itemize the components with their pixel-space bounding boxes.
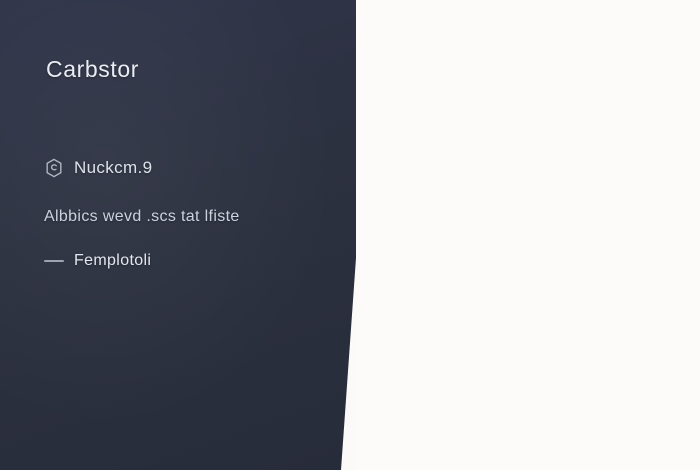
sidebar-item-label-1: Albbics wevd .scs tat lfiste [44, 208, 240, 226]
slide-canvas: L'MTOOEt eymctrtternedfrarstgpetrsabsren [0, 0, 700, 470]
sidebar-item-label-2: Femplotoli [74, 252, 151, 270]
sidebar-item-label-0: Nuckcm.9 [74, 158, 152, 178]
page-title: Carbstor [46, 56, 139, 83]
sidebar-item-0[interactable]: Nuckcm.9 [44, 158, 152, 178]
dash-icon [44, 260, 64, 262]
content-panel: L'MTOOEt eymctrtternedfrarstgpetrsabsren [356, 0, 700, 470]
hexagon-spiral-icon [44, 158, 64, 178]
sidebar-item-2[interactable]: Femplotoli [44, 252, 151, 270]
sidebar-item-1[interactable]: Albbics wevd .scs tat lfiste [44, 208, 240, 226]
